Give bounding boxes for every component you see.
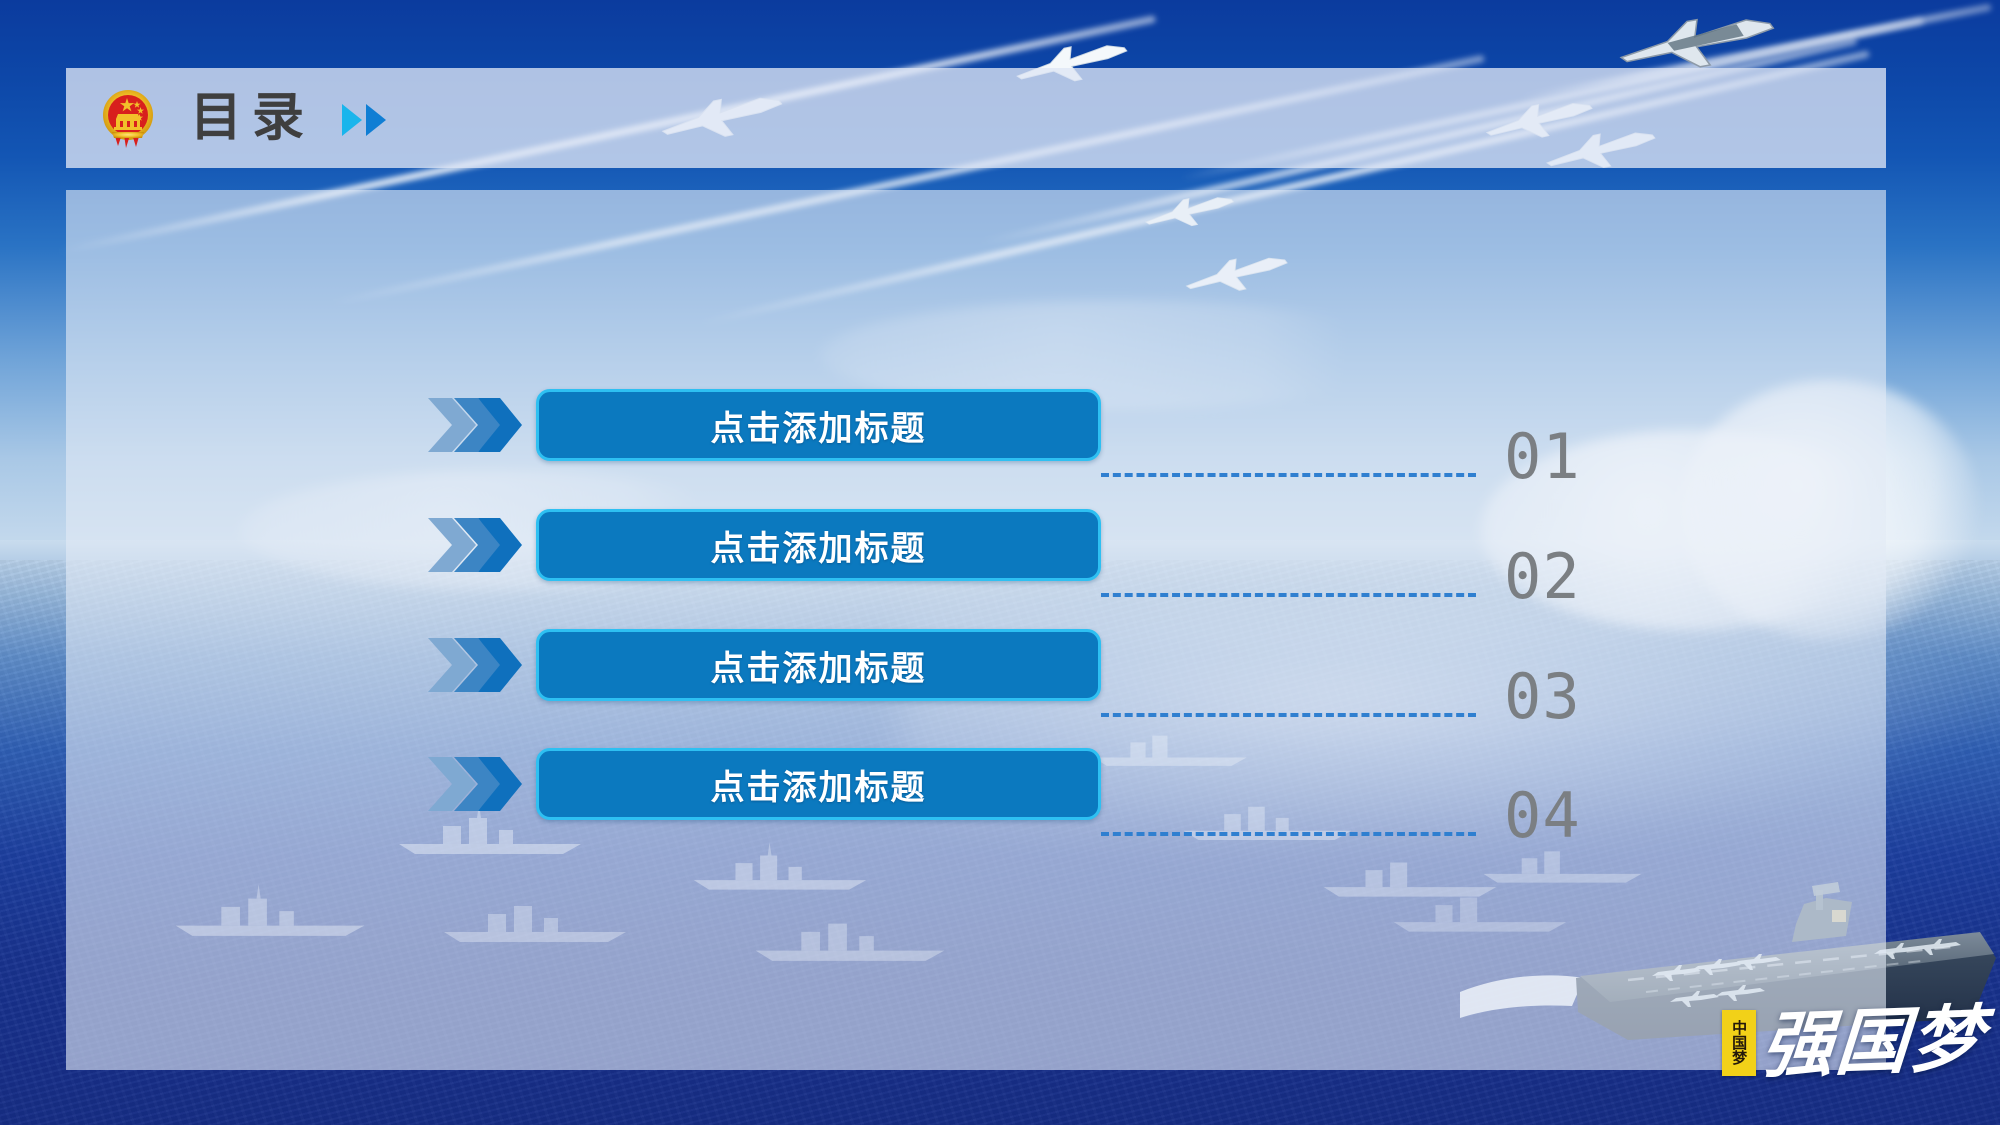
toc-title-label: 点击添加标题 bbox=[711, 401, 927, 450]
slide-header: 目录 bbox=[66, 68, 1886, 168]
toc-title-label: 点击添加标题 bbox=[711, 521, 927, 570]
toc-connector: 04 bbox=[1101, 803, 1721, 865]
china-national-emblem-icon bbox=[96, 86, 160, 150]
dashed-connector-line bbox=[1101, 832, 1476, 836]
toc-title-button[interactable]: 点击添加标题 bbox=[536, 509, 1101, 581]
triple-chevron-right-icon bbox=[426, 632, 522, 698]
toc-item[interactable]: 点击添加标题 02 bbox=[426, 502, 1726, 588]
dashed-connector-line bbox=[1101, 593, 1476, 597]
toc-title-button[interactable]: 点击添加标题 bbox=[536, 389, 1101, 461]
triple-chevron-right-icon bbox=[426, 751, 522, 817]
slide-root: 目录 点击添加标题 01 bbox=[0, 0, 2000, 1125]
play-triangle-icon bbox=[342, 104, 362, 136]
toc-title-button[interactable]: 点击添加标题 bbox=[536, 629, 1101, 701]
toc-number: 02 bbox=[1504, 546, 1581, 608]
toc-number: 04 bbox=[1504, 785, 1581, 847]
dashed-connector-line bbox=[1101, 713, 1476, 717]
toc-item[interactable]: 点击添加标题 01 bbox=[426, 382, 1726, 468]
toc-number: 03 bbox=[1504, 666, 1581, 728]
toc-title-label: 点击添加标题 bbox=[711, 760, 927, 809]
header-arrow-group bbox=[342, 104, 386, 136]
toc-connector: 03 bbox=[1101, 684, 1721, 746]
dashed-connector-line bbox=[1101, 473, 1476, 477]
toc-item[interactable]: 点击添加标题 03 bbox=[426, 622, 1726, 708]
toc-number: 01 bbox=[1504, 426, 1581, 488]
toc-title-label: 点击添加标题 bbox=[711, 641, 927, 690]
triple-chevron-right-icon bbox=[426, 392, 522, 458]
table-of-contents: 点击添加标题 01 点击添加标题 02 bbox=[66, 190, 1886, 1070]
toc-connector: 02 bbox=[1101, 564, 1721, 626]
toc-connector: 01 bbox=[1101, 444, 1721, 506]
page-title: 目录 bbox=[190, 92, 314, 144]
toc-item[interactable]: 点击添加标题 04 bbox=[426, 741, 1726, 827]
play-triangle-icon bbox=[366, 104, 386, 136]
triple-chevron-right-icon bbox=[426, 512, 522, 578]
toc-title-button[interactable]: 点击添加标题 bbox=[536, 748, 1101, 820]
